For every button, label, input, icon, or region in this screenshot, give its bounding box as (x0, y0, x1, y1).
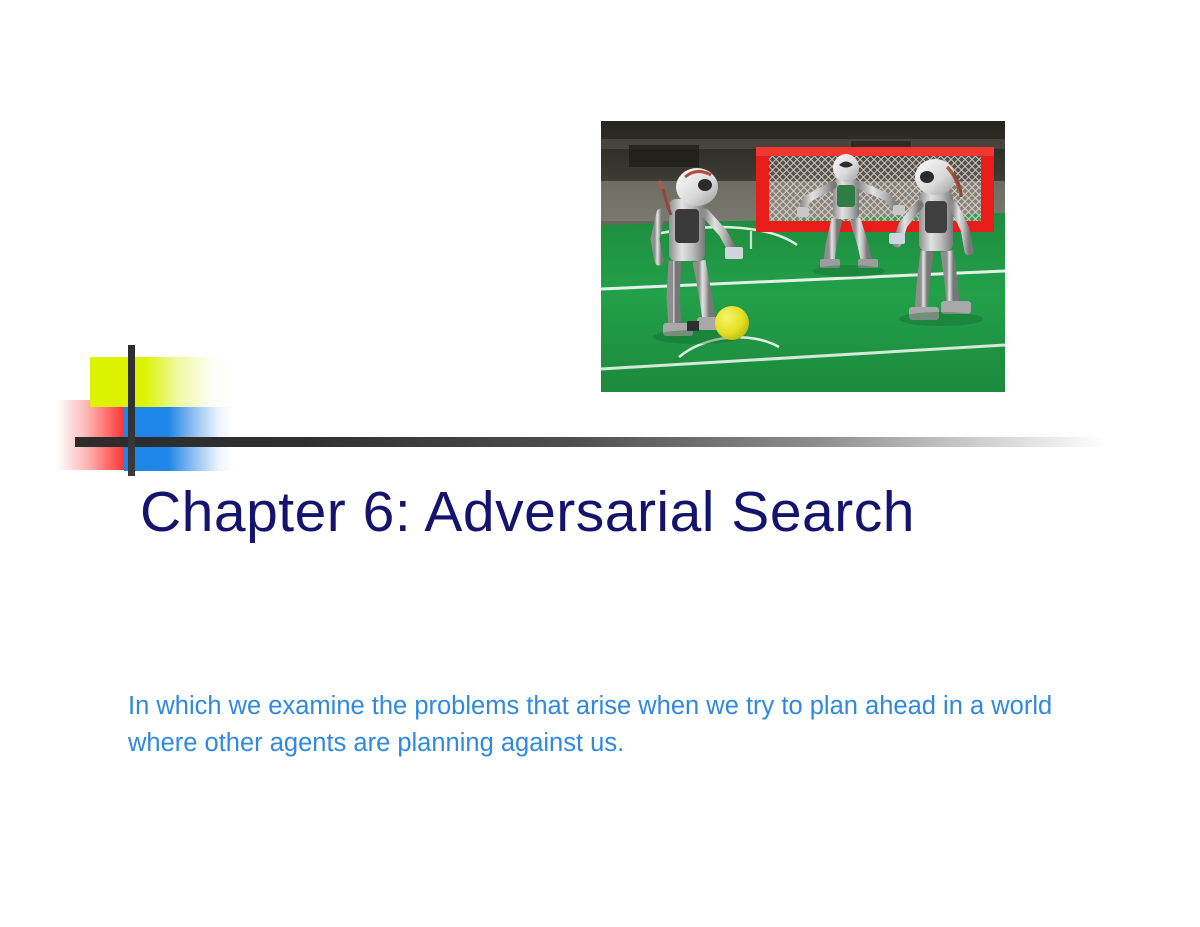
robocup-soccer-image (601, 121, 1005, 392)
decor-bar-vertical (128, 345, 135, 476)
decor-bar-horizontal (75, 437, 1105, 447)
slide-title: Chapter 6: Adversarial Search (140, 483, 1100, 543)
soccer-ball (715, 306, 749, 340)
robocup-soccer-photo (601, 121, 1005, 392)
slide-subtitle: In which we examine the problems that ar… (128, 688, 1058, 762)
decor-square-red (57, 400, 129, 470)
presentation-slide: Chapter 6: Adversarial Search In which w… (0, 0, 1200, 927)
decor-square-yellow (90, 357, 232, 407)
